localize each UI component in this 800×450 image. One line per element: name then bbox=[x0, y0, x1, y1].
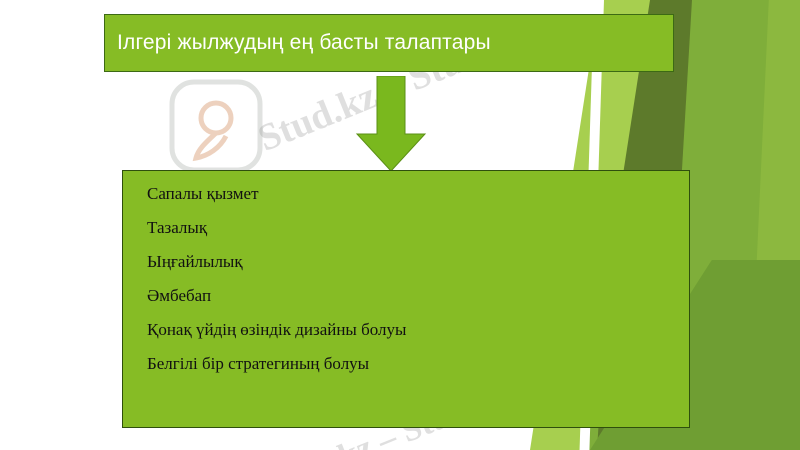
list-item: Сапалы қызмет bbox=[147, 185, 679, 219]
slide-title: Ілгері жылжудың ең басты талаптары bbox=[105, 31, 491, 55]
list-item: Әмбебап bbox=[147, 287, 679, 321]
content-box: Сапалы қызмет Тазалық Ыңғайлылық Әмбебап… bbox=[122, 170, 690, 428]
slide-canvas: Stud.kz – Stud.kz Stud.kz – Stud.kz Stud… bbox=[0, 0, 800, 450]
watermark-logo-icon bbox=[168, 78, 264, 174]
list-item: Тазалық bbox=[147, 219, 679, 253]
requirements-list: Сапалы қызмет Тазалық Ыңғайлылық Әмбебап… bbox=[147, 185, 679, 389]
background-left-panel bbox=[0, 0, 120, 450]
list-item: Қонақ үйдің өзіндік дизайны болуы bbox=[147, 321, 679, 355]
list-item: Ыңғайлылық bbox=[147, 253, 679, 287]
title-box: Ілгері жылжудың ең басты талаптары bbox=[104, 14, 674, 72]
list-item: Белгілі бір стратегиның болуы bbox=[147, 355, 679, 389]
down-arrow-icon bbox=[355, 76, 427, 172]
background-shape-right-accent bbox=[748, 0, 800, 450]
